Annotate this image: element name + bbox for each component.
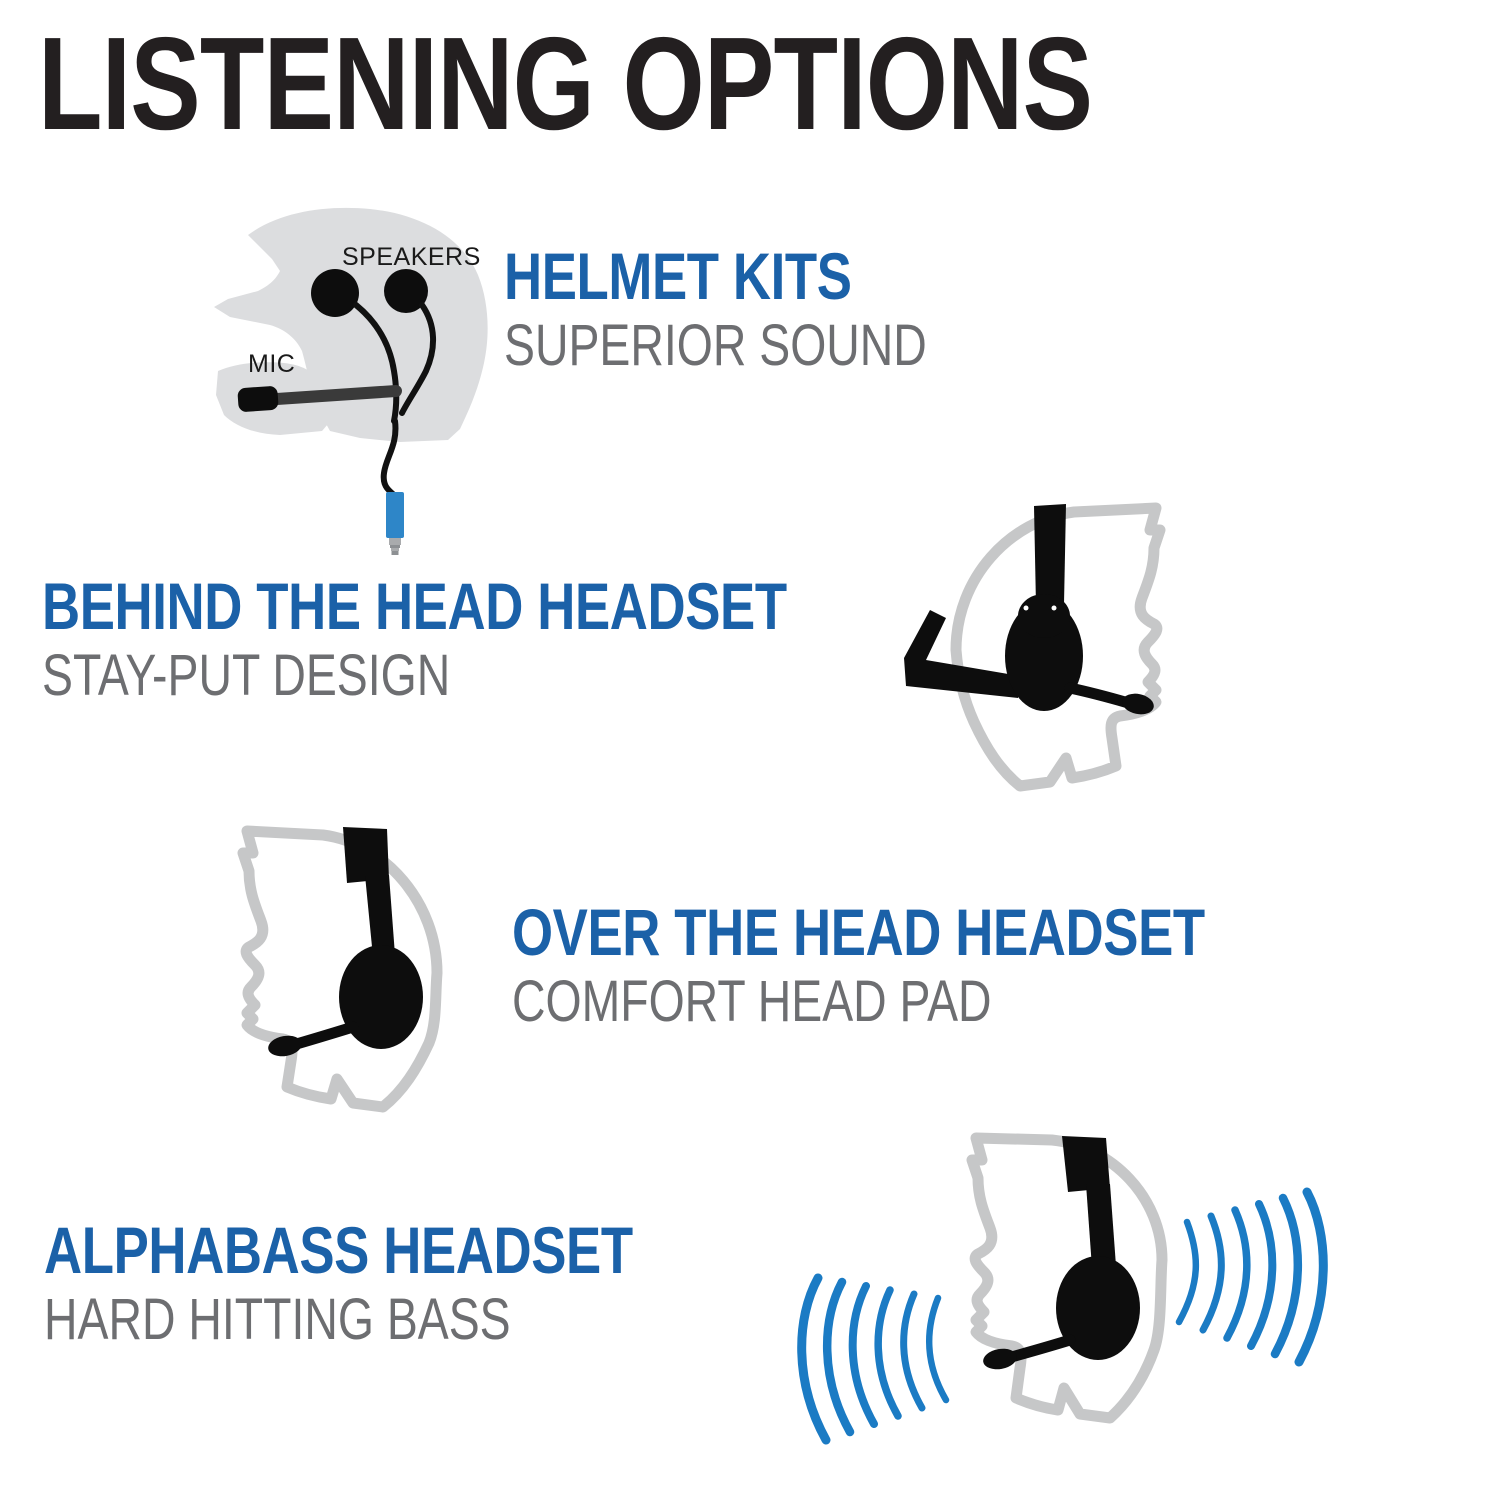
audio-plug-icon xyxy=(386,492,404,555)
subheading-over-the-head-headset: COMFORT HEAD PAD xyxy=(512,973,1205,1031)
comfort-head-pad xyxy=(343,827,389,883)
over-the-head-headset-illustration xyxy=(205,815,545,1135)
heading-helmet-kits: HELMET KITS xyxy=(504,244,927,309)
sound-waves-right xyxy=(1179,1192,1323,1362)
section-alphabass-text: ALPHABASS HEADSET HARD HITTING BASS xyxy=(44,1218,780,1349)
headband-arm xyxy=(1086,1184,1116,1268)
helmet-mic-capsule xyxy=(237,386,279,413)
subheading-behind-the-head-headset: STAY-PUT DESIGN xyxy=(42,647,787,705)
behind-the-head-headset-illustration xyxy=(860,490,1260,820)
section-over-the-head-text: OVER THE HEAD HEADSET COMFORT HEAD PAD xyxy=(512,900,1378,1031)
earcup xyxy=(339,945,423,1049)
top-headband-strap xyxy=(1034,504,1066,606)
heading-alphabass-headset: ALPHABASS HEADSET xyxy=(44,1218,633,1283)
alphabass-headset-illustration xyxy=(790,1130,1335,1480)
mic-label: MIC xyxy=(248,350,295,379)
headband-arm xyxy=(365,875,395,957)
infographic-page: LISTENING OPTIONS xyxy=(0,0,1500,1500)
comfort-head-pad xyxy=(1062,1136,1110,1192)
helmet-kit-illustration: SPEAKERS MIC xyxy=(210,195,540,550)
boom-mic-arm xyxy=(293,1027,353,1045)
subheading-alphabass-headset: HARD HITTING BASS xyxy=(44,1291,633,1349)
speakers-label: SPEAKERS xyxy=(342,243,481,272)
helmet-speaker-left xyxy=(311,269,359,317)
section-behind-the-head-text: BEHIND THE HEAD HEADSET STAY-PUT DESIGN xyxy=(42,574,973,705)
section-helmet-kits-text: HELMET KITS SUPERIOR SOUND xyxy=(504,244,1033,375)
subheading-helmet-kits: SUPERIOR SOUND xyxy=(504,317,927,375)
heading-over-the-head-headset: OVER THE HEAD HEADSET xyxy=(512,900,1205,965)
heading-behind-the-head-headset: BEHIND THE HEAD HEADSET xyxy=(42,574,787,639)
sound-waves-left xyxy=(802,1278,946,1440)
page-title: LISTENING OPTIONS xyxy=(38,18,1092,150)
